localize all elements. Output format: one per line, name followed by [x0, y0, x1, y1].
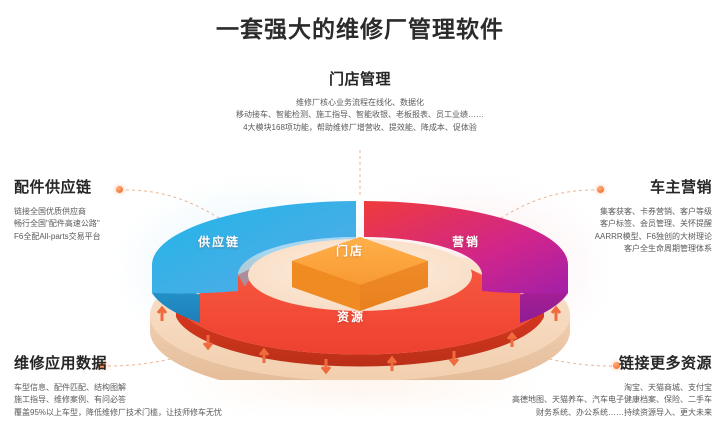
- block-line: 移动接车、智能检测、施工指导、智能收银、老板报表、员工业绩……: [0, 109, 720, 121]
- page-title: 一套强大的维修厂管理软件: [0, 10, 720, 44]
- block-line: F6全配All-parts交易平台: [14, 231, 101, 243]
- block-line: 淘宝、天猫商城、支付宝: [512, 382, 712, 394]
- block-heading: 配件供应链: [14, 176, 101, 197]
- segment-label-resource: 资源: [337, 308, 365, 325]
- block-line: 客户标签、会员管理、关怀提醒: [595, 218, 712, 230]
- block-line: 集客获客、卡券营销、客户等级: [595, 206, 712, 218]
- block-repair-application-data: 维修应用数据 车型信息、配件匹配、结构图解 施工指导、维修案例、有问必答 覆盖9…: [14, 352, 222, 419]
- block-parts-supply-chain: 配件供应链 链接全国优质供应商 畅行全国"配件高速公路" F6全配All-par…: [14, 176, 101, 243]
- block-line: 高德地图、天猫养车、汽车电子健康档案、保险、二手车: [512, 394, 712, 406]
- block-line: 财务系统、办公系统……持续资源导入、更大未来: [512, 407, 712, 419]
- ring-diagram-svg: [140, 165, 580, 380]
- ring-diagram: 供应链 营销 资源 门店: [140, 165, 580, 380]
- poster-canvas: 一套强大的维修厂管理软件: [0, 0, 720, 443]
- block-line: 覆盖95%以上车型，降低维修厂技术门槛，让技师修车无忧: [14, 407, 222, 419]
- segment-label-marketing: 营销: [452, 233, 480, 250]
- block-line: 畅行全国"配件高速公路": [14, 218, 101, 230]
- block-heading: 车主营销: [595, 176, 712, 197]
- block-line: 维修厂核心业务流程在线化、数据化: [0, 97, 720, 109]
- block-line: 链接全国优质供应商: [14, 206, 101, 218]
- marker-dot-left-top: [116, 186, 123, 193]
- segment-label-store: 门店: [336, 242, 364, 259]
- block-owner-marketing: 车主营销 集客获客、卡券营销、客户等级 客户标签、会员管理、关怀提醒 AARRR…: [595, 176, 712, 256]
- block-line: 4大模块168项功能，帮助维修厂增营收、提效能、降成本、促体验: [0, 122, 720, 134]
- block-heading: 门店管理: [0, 68, 720, 89]
- block-line: AARRR模型、F6独创的大树理论: [595, 231, 712, 243]
- segment-label-supply: 供应链: [198, 233, 240, 250]
- block-line: 施工指导、维修案例、有问必答: [14, 394, 222, 406]
- block-heading: 链接更多资源: [512, 352, 712, 373]
- block-heading: 维修应用数据: [14, 352, 222, 373]
- block-store-management: 门店管理 维修厂核心业务流程在线化、数据化 移动接车、智能检测、施工指导、智能收…: [0, 68, 720, 134]
- block-line: 车型信息、配件匹配、结构图解: [14, 382, 222, 394]
- block-line: 客户全生命周期管理体系: [595, 243, 712, 255]
- block-link-more-resources: 链接更多资源 淘宝、天猫商城、支付宝 高德地图、天猫养车、汽车电子健康档案、保险…: [512, 352, 712, 419]
